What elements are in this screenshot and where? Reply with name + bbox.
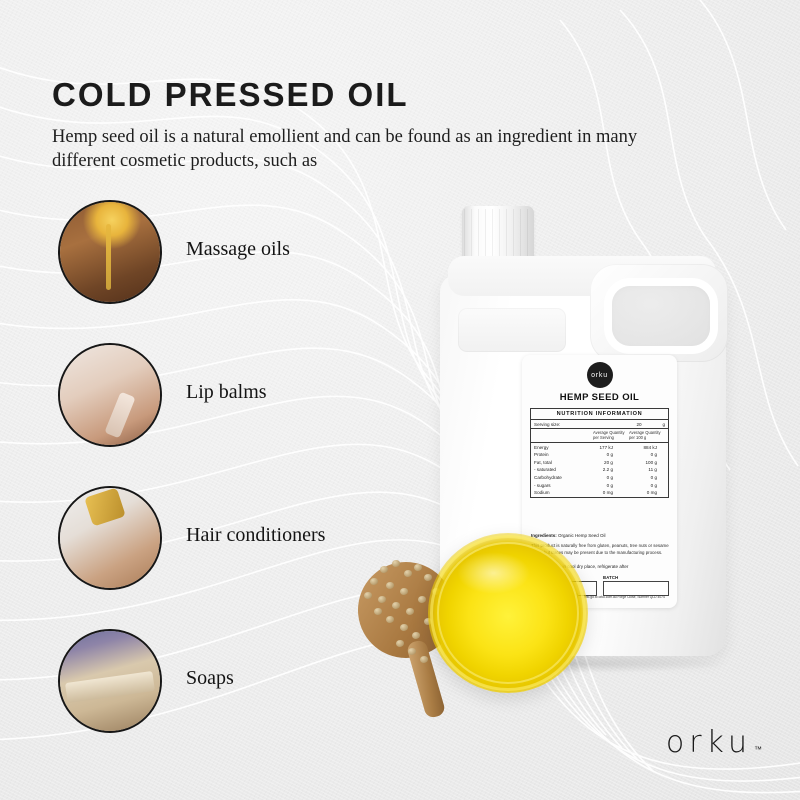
glass-bowl-of-oil bbox=[428, 533, 588, 693]
massage-oil-photo bbox=[58, 200, 162, 304]
nutrient-per-serving: 177 kJ bbox=[577, 445, 621, 450]
nutrient-per-100g: 0 mg bbox=[621, 490, 665, 495]
table-row: Sodium 0 mg 0 mg bbox=[531, 489, 668, 497]
nutrient-name: - saturated bbox=[534, 467, 577, 472]
trademark-symbol: ™ bbox=[754, 745, 762, 758]
nutrient-per-100g: 100 g bbox=[621, 460, 665, 465]
feature-label: Soaps bbox=[186, 667, 234, 690]
column-header-per-serving: Average Quantity per Serving bbox=[593, 431, 629, 440]
brand-logo: orku ™ bbox=[666, 728, 762, 758]
bowl-highlight bbox=[457, 552, 531, 594]
table-row: - saturated 2.2 g 11 g bbox=[531, 466, 668, 474]
nutrient-per-serving: 0 g bbox=[577, 475, 621, 480]
nutrient-per-100g: 884 kJ bbox=[621, 445, 665, 450]
table-row: - sugars 0 g 0 g bbox=[531, 481, 668, 489]
nutrition-column-headers: Average Quantity per Serving Average Qua… bbox=[531, 429, 668, 443]
column-header-per-100g: Average Quantity per 100 g bbox=[629, 431, 665, 440]
nutrient-name: Fat, total bbox=[534, 460, 577, 465]
page-subtitle: Hemp seed oil is a natural emollient and… bbox=[52, 125, 692, 174]
nutrient-per-serving: 2.2 g bbox=[577, 467, 621, 472]
nutrient-name: Carbohydrate bbox=[534, 475, 577, 480]
poster-canvas: COLD PRESSED OIL Hemp seed oil is a natu… bbox=[0, 0, 800, 800]
nutrient-name: Energy bbox=[534, 445, 577, 450]
hair-conditioner-photo bbox=[58, 486, 162, 590]
bottle-front-panel bbox=[458, 308, 566, 352]
table-row: Energy 177 kJ 884 kJ bbox=[531, 443, 668, 451]
serving-size-label: Serving size: bbox=[534, 422, 636, 427]
brand-name: orku bbox=[666, 728, 752, 758]
nutrient-per-serving: 0 mg bbox=[577, 490, 621, 495]
page-title: COLD PRESSED OIL bbox=[52, 78, 742, 111]
product-name: HEMP SEED OIL bbox=[522, 392, 677, 403]
feature-label: Massage oils bbox=[186, 238, 290, 261]
serving-size-value: 20 bbox=[636, 422, 662, 427]
serving-size-row: Serving size: 20 g bbox=[531, 420, 668, 429]
ingredients-line: Ingredients: Organic Hemp Seed Oil bbox=[531, 533, 669, 540]
nutrient-per-100g: 0 g bbox=[621, 475, 665, 480]
table-row: Protein 0 g 0 g bbox=[531, 451, 668, 459]
nutrient-per-serving: 20 g bbox=[577, 460, 621, 465]
header-block: COLD PRESSED OIL Hemp seed oil is a natu… bbox=[52, 78, 742, 174]
nutrient-per-serving: 0 g bbox=[577, 483, 621, 488]
nutrient-per-100g: 11 g bbox=[621, 467, 665, 472]
company-address: info.go.to orku.com.au Forge Close, Sumn… bbox=[584, 595, 671, 599]
serving-size-unit: g bbox=[662, 422, 665, 427]
bottle-handle-hole bbox=[612, 286, 710, 346]
batch-field[interactable]: BATCH bbox=[603, 575, 669, 596]
nutrient-name: Sodium bbox=[534, 490, 577, 495]
nutrient-per-100g: 0 g bbox=[621, 483, 665, 488]
feature-label: Lip balms bbox=[186, 381, 267, 404]
feature-item-lip-balms: Lip balms bbox=[52, 343, 412, 486]
bottle-handle bbox=[590, 264, 728, 362]
nutrient-name: Protein bbox=[534, 452, 577, 457]
table-row: Carbohydrate 0 g 0 g bbox=[531, 474, 668, 482]
orku-logo-icon: orku bbox=[587, 362, 613, 388]
table-row: Fat, total 20 g 100 g bbox=[531, 459, 668, 467]
nutrient-per-100g: 0 g bbox=[621, 452, 665, 457]
feature-item-massage-oils: Massage oils bbox=[52, 200, 412, 343]
soap-bars-photo bbox=[58, 629, 162, 733]
nutrition-table: NUTRITION INFORMATION Serving size: 20 g… bbox=[530, 408, 669, 498]
batch-box[interactable] bbox=[603, 581, 669, 596]
batch-label: BATCH bbox=[603, 575, 669, 580]
nutrient-per-serving: 0 g bbox=[577, 452, 621, 457]
nutrition-heading: NUTRITION INFORMATION bbox=[531, 409, 668, 420]
nutrient-name: - sugars bbox=[534, 483, 577, 488]
feature-label: Hair conditioners bbox=[186, 524, 325, 547]
ingredients-value: Organic Hemp Seed Oil bbox=[558, 533, 606, 538]
lip-balm-photo bbox=[58, 343, 162, 447]
